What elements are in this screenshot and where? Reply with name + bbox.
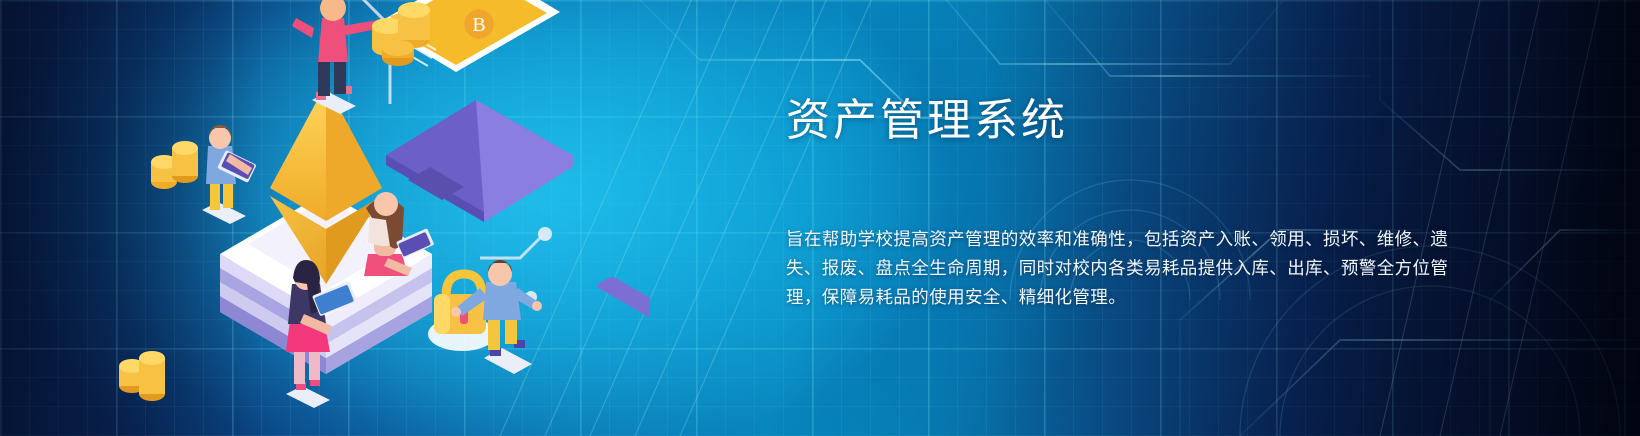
person-with-laptop-icon — [202, 125, 257, 224]
banner-copy: 资产管理系统 旨在帮助学校提高资产管理的效率和准确性，包括资产入账、领用、损坏、… — [786, 96, 1486, 312]
gold-coin-stack-icon — [151, 141, 198, 189]
page-description: 旨在帮助学校提高资产管理的效率和准确性，包括资产入账、领用、损坏、维修、遗失、报… — [786, 225, 1464, 312]
isometric-asset-management-illustration: B — [90, 0, 650, 436]
gold-coin-stack-icon — [119, 351, 165, 401]
page-title: 资产管理系统 — [786, 96, 1486, 147]
asset-management-banner: B — [0, 0, 1640, 436]
svg-text:B: B — [472, 14, 485, 36]
gold-coin-stack-icon — [372, 2, 430, 66]
